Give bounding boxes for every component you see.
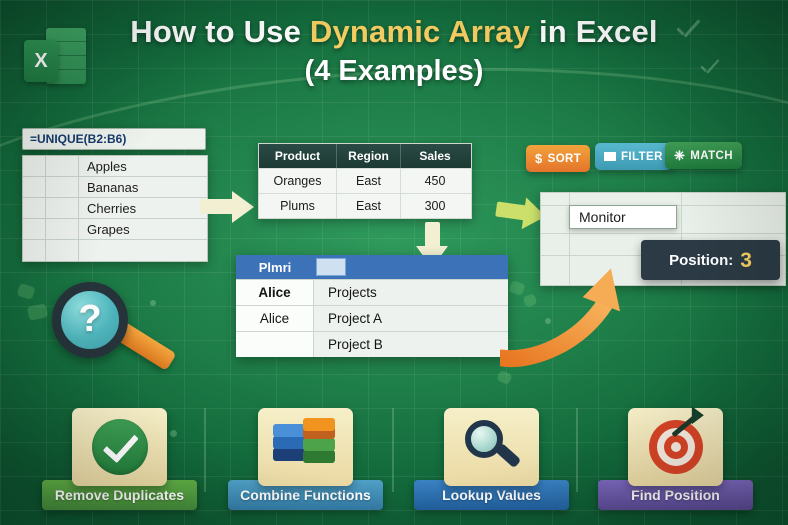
cell-project: Projects (314, 280, 508, 305)
sales-table: Product Region Sales Oranges East 450 Pl… (258, 143, 472, 219)
feature-remove-duplicates[interactable]: Remove Duplicates (42, 408, 197, 510)
stacked-layers-icon (273, 420, 339, 474)
cell-name (236, 332, 314, 357)
badge-label: FILTER (621, 151, 663, 163)
position-label: Position: (669, 252, 733, 269)
table-row: Project B (236, 331, 508, 357)
arrow-right-icon (200, 190, 256, 223)
cell-project: Project B (314, 332, 508, 357)
divider (392, 408, 394, 492)
position-value: 3 (740, 250, 752, 271)
unique-item: Cherries (79, 198, 207, 218)
unique-item: Bananas (79, 177, 207, 197)
decor-shape (27, 303, 48, 321)
unique-item: Apples (79, 156, 207, 176)
title-highlight: Dynamic Array (310, 14, 530, 49)
table-row: Grapes (23, 219, 207, 240)
cell-region: East (337, 169, 401, 193)
formula-bar[interactable]: =UNIQUE(B2:B6) (22, 128, 206, 150)
curved-arrow-icon (500, 250, 650, 370)
cell-sales: 450 (401, 169, 469, 193)
table-row: Oranges East 450 (259, 168, 471, 193)
check-circle-icon (92, 419, 148, 475)
page-title: How to Use Dynamic Array in Excel (4 Exa… (0, 14, 788, 88)
unique-item: Grapes (79, 219, 207, 239)
funnel-icon (604, 152, 616, 161)
divider (576, 408, 578, 492)
cell-name: Alice (236, 306, 314, 331)
table-row: Cherries (23, 198, 207, 219)
question-mark-glyph: ? (78, 300, 101, 338)
magnifier-lens: ? (52, 282, 128, 358)
decor-shape (16, 283, 35, 300)
feature-find-position[interactable]: Find Position (598, 408, 753, 510)
match-icon: ❈ (674, 149, 685, 162)
column-header: Region (337, 144, 401, 168)
title-part-3: in Excel (530, 14, 658, 49)
position-tooltip: Position: 3 (641, 240, 780, 280)
table-row: Alice Projects (236, 279, 508, 305)
title-part-1: How to Use (130, 14, 310, 49)
table-header-row: Product Region Sales (259, 144, 471, 168)
cell-region: East (337, 194, 401, 218)
cell-name: Alice (236, 280, 314, 305)
infographic-canvas: X How to Use Dynamic Array in Excel (4 E… (0, 0, 788, 525)
table-header-row: Plmri (236, 255, 508, 279)
feature-lookup-values[interactable]: Lookup Values (414, 408, 569, 510)
badge-sort[interactable]: $ SORT (526, 145, 590, 172)
feature-combine-functions[interactable]: Combine Functions (228, 408, 383, 510)
badge-match[interactable]: ❈ MATCH (665, 142, 742, 169)
divider (204, 408, 206, 492)
cell-project: Project A (314, 306, 508, 331)
badge-filter[interactable]: FILTER (595, 143, 672, 170)
feature-card (444, 408, 539, 486)
table-row: Bananas (23, 177, 207, 198)
decor-shape (496, 370, 512, 385)
table-row-empty (23, 240, 207, 261)
badge-label: SORT (548, 153, 582, 165)
cell-product: Oranges (259, 169, 337, 193)
selected-cell[interactable] (316, 258, 346, 276)
feature-card (72, 408, 167, 486)
table-row: Apples (23, 156, 207, 177)
formula-text: =UNIQUE(B2:B6) (30, 132, 126, 146)
monitor-cell-value: Monitor (579, 209, 626, 225)
badge-label: MATCH (690, 150, 733, 162)
cell-product: Plums (259, 194, 337, 218)
magnifier-icon (463, 418, 521, 476)
feature-card (628, 408, 723, 486)
unique-results-grid: Apples Bananas Cherries Grapes (22, 155, 208, 262)
monitor-cell[interactable]: Monitor (569, 205, 677, 229)
column-header: Plmri (236, 260, 314, 275)
feature-card (258, 408, 353, 486)
combine-functions-table: Plmri Alice Projects Alice Project A Pro… (236, 255, 508, 357)
column-header: Sales (401, 144, 469, 168)
dollar-icon: $ (535, 152, 543, 165)
target-dart-icon (647, 418, 705, 476)
table-row: Plums East 300 (259, 193, 471, 218)
magnifier-question-icon: ? (52, 282, 182, 378)
table-row: Alice Project A (236, 305, 508, 331)
page-subtitle: (4 Examples) (0, 55, 788, 88)
cell-sales: 300 (401, 194, 469, 218)
column-header: Product (259, 144, 337, 168)
